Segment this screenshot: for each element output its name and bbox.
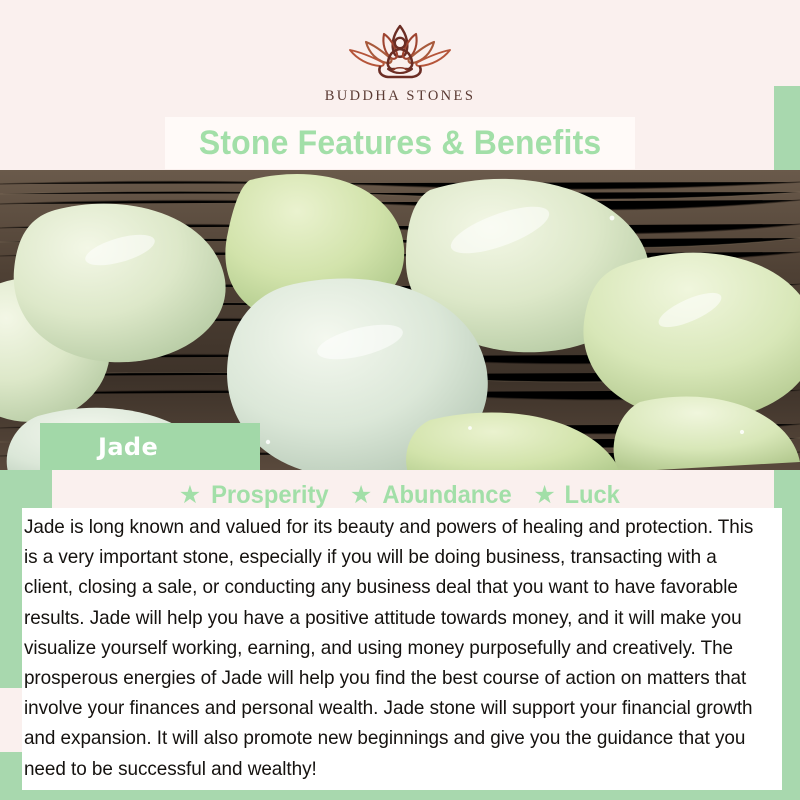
stone-name-label: Jade xyxy=(40,423,260,470)
keyword-item-abundance: ★ Abundance xyxy=(350,481,516,510)
star-icon: ★ xyxy=(179,483,201,508)
keyword-item-prosperity: ★ Prosperity xyxy=(179,481,332,510)
title-banner: Stone Features & Benefits xyxy=(165,117,635,169)
description-card: Jade is long known and valued for its be… xyxy=(22,508,782,790)
keyword-label: Abundance xyxy=(383,481,512,510)
keyword-row: ★ Prosperity ★ Abundance ★ Luck xyxy=(0,478,800,512)
brand-header: BUDDHA STONES xyxy=(0,0,800,118)
lotus-meditation-icon xyxy=(336,20,464,82)
keyword-label: Prosperity xyxy=(211,481,328,510)
stone-name-text: Jade xyxy=(98,433,158,461)
keyword-label: Luck xyxy=(564,481,619,510)
infographic-page: BUDDHA STONES Stone Features & Benefits xyxy=(0,0,800,800)
page-title: Stone Features & Benefits xyxy=(199,124,602,163)
brand-name: BUDDHA STONES xyxy=(325,88,476,105)
keyword-item-luck: ★ Luck xyxy=(533,481,621,510)
star-icon: ★ xyxy=(350,483,372,508)
description-text: Jade is long known and valued for its be… xyxy=(22,512,759,784)
star-icon: ★ xyxy=(533,483,555,508)
